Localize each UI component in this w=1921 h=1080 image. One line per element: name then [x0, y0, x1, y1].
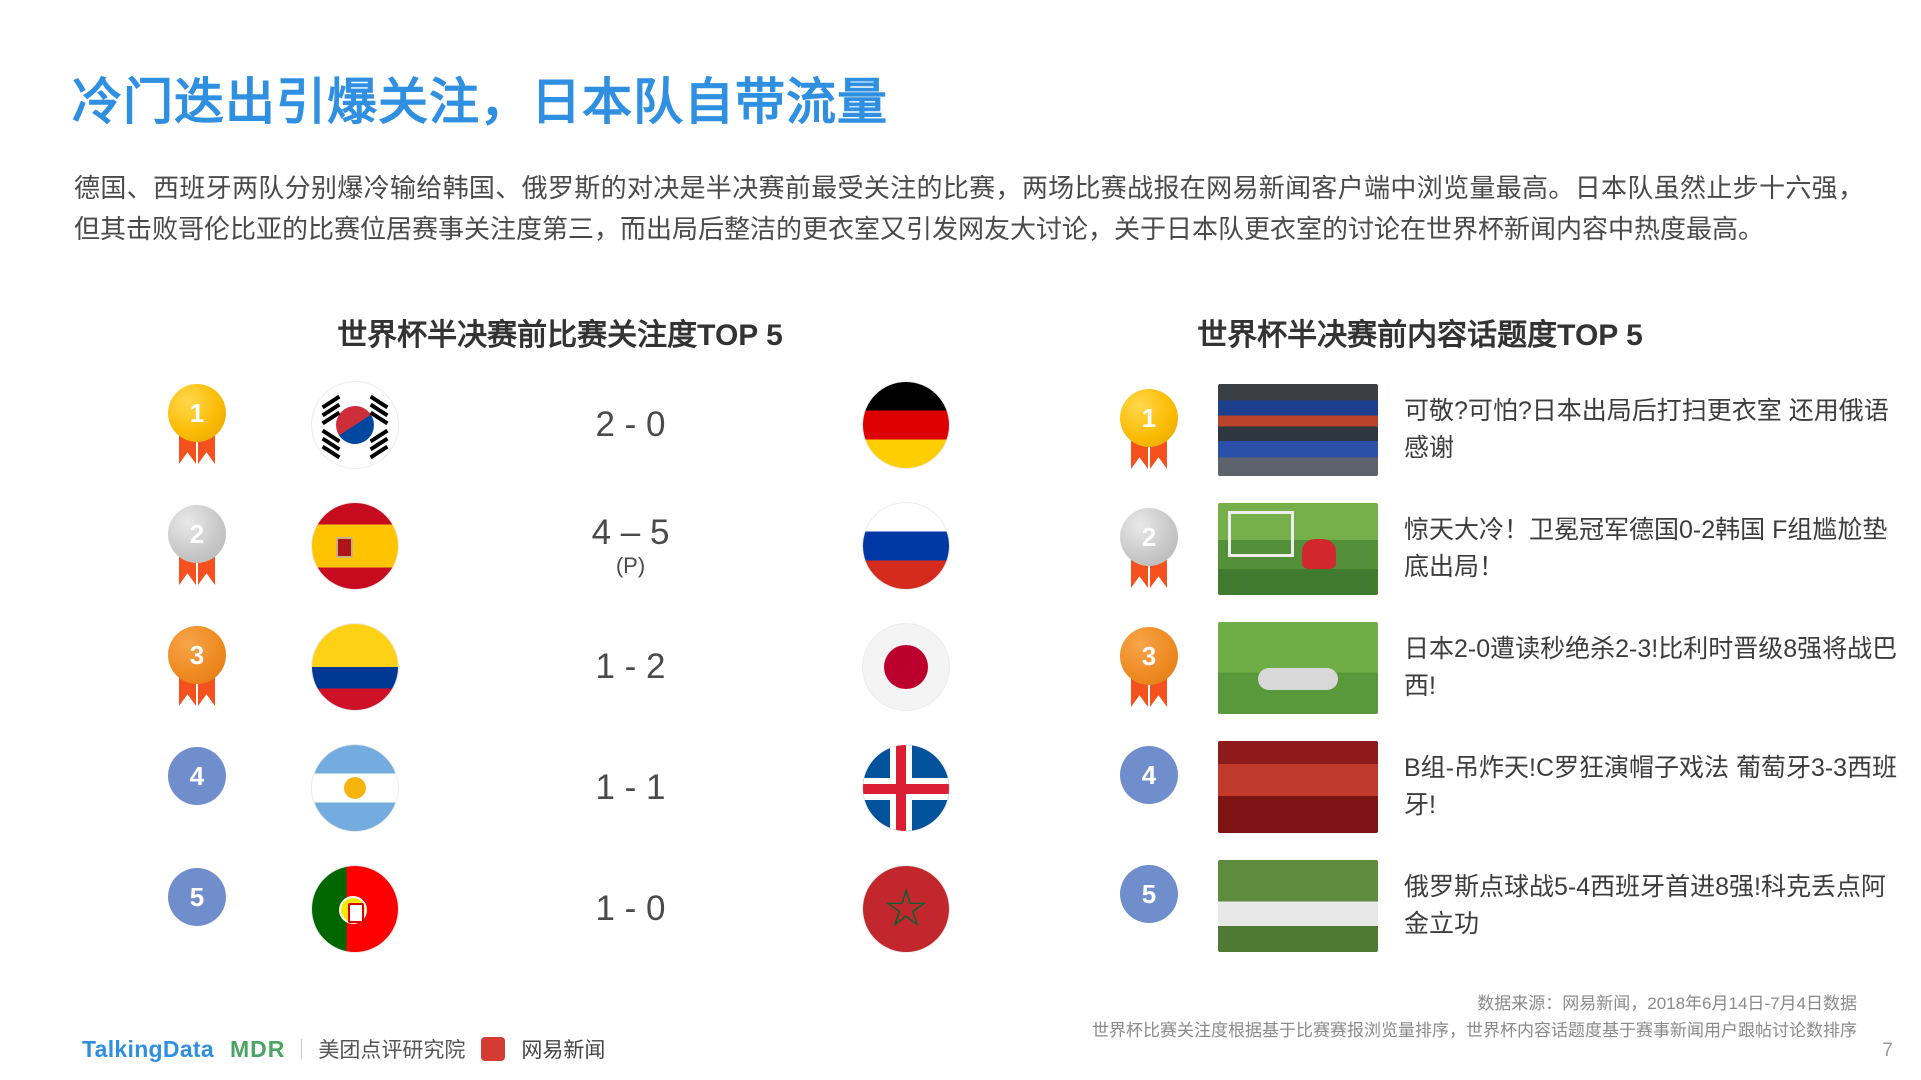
news-ranking-list: 1 可敬?可怕?日本出局后打扫更衣室 还用俄语感谢 2 惊天大冷！卫冕冠军德国0…	[1120, 382, 1910, 977]
slide: 冷门迭出引爆关注，日本队自带流量 德国、西班牙两队分别爆冷输给韩国、俄罗斯的对决…	[0, 0, 1921, 1080]
score-value: 1 - 1	[595, 768, 665, 807]
mdr-logo: MDR	[230, 1036, 285, 1063]
penalty-note: (P)	[399, 553, 862, 579]
score-value: 4 – 5	[592, 513, 670, 552]
match-score: 2 - 0	[399, 405, 862, 445]
page-title: 冷门迭出引爆关注，日本队自带流量	[72, 62, 888, 134]
flag-japan-icon	[862, 623, 950, 711]
rank-badge-5: 5	[1120, 865, 1178, 947]
match-row[interactable]: 3 1 - 2	[150, 617, 950, 717]
flag-morocco-icon: ☆	[862, 865, 950, 953]
news-headline[interactable]: 日本2-0遭读秒绝杀2-3!比利时晋级8强将战巴西!	[1404, 631, 1910, 705]
news-row[interactable]: 2 惊天大冷！卫冕冠军德国0-2韩国 F组尴尬垫底出局！	[1120, 501, 1910, 597]
meituan-research-logo: 美团点评研究院	[318, 1034, 465, 1064]
flag-spain-icon	[311, 502, 399, 590]
netease-mark-icon	[481, 1037, 505, 1061]
rank-badge-3: 3	[1120, 627, 1178, 709]
news-thumbnail-red-crowd[interactable]	[1218, 741, 1378, 833]
match-score: 1 - 2	[399, 647, 862, 687]
left-column-heading: 世界杯半决赛前比赛关注度TOP 5	[170, 310, 950, 354]
flag-iceland-icon	[862, 744, 950, 832]
news-thumbnail-locker-room[interactable]	[1218, 384, 1378, 476]
rank-number: 1	[1120, 389, 1178, 447]
news-row[interactable]: 5 俄罗斯点球战5-4西班牙首进8强!科克丢点阿金立功	[1120, 858, 1910, 954]
match-row[interactable]: 1 2 - 0	[150, 375, 950, 475]
news-row[interactable]: 3 日本2-0遭读秒绝杀2-3!比利时晋级8强将战巴西!	[1120, 620, 1910, 716]
talkingdata-logo: TalkingData	[82, 1036, 214, 1063]
right-column-heading: 世界杯半决赛前内容话题度TOP 5	[1000, 310, 1840, 354]
rank-number: 3	[168, 626, 226, 684]
match-score: 1 - 0	[399, 889, 862, 929]
news-thumbnail-goal-save[interactable]	[1218, 503, 1378, 595]
rank-number: 5	[1120, 865, 1178, 923]
news-headline[interactable]: 可敬?可怕?日本出局后打扫更衣室 还用俄语感谢	[1404, 393, 1910, 467]
news-row[interactable]: 4 B组-吊炸天!C罗狂演帽子戏法 葡萄牙3-3西班牙!	[1120, 739, 1910, 835]
news-thumbnail-pitch-players[interactable]	[1218, 622, 1378, 714]
rank-badge-2: 2	[168, 505, 226, 587]
rank-number: 1	[168, 384, 226, 442]
flag-portugal-icon	[311, 865, 399, 953]
rank-badge-1: 1	[168, 384, 226, 466]
match-score: 4 – 5 (P)	[399, 513, 862, 579]
rank-number: 4	[168, 747, 226, 805]
news-row[interactable]: 1 可敬?可怕?日本出局后打扫更衣室 还用俄语感谢	[1120, 382, 1910, 478]
source-note: 数据来源：网易新闻，2018年6月14日-7月4日数据 世界杯比赛关注度根据基于…	[877, 990, 1857, 1044]
rank-number: 3	[1120, 627, 1178, 685]
rank-badge-1: 1	[1120, 389, 1178, 471]
flag-korea-icon	[311, 381, 399, 469]
news-headline[interactable]: 俄罗斯点球战5-4西班牙首进8强!科克丢点阿金立功	[1404, 869, 1910, 943]
match-row[interactable]: 4 1 - 1	[150, 738, 950, 838]
rank-badge-5: 5	[168, 868, 226, 950]
logo-bar: TalkingData MDR 美团点评研究院 网易新闻	[82, 1034, 605, 1064]
rank-badge-2: 2	[1120, 508, 1178, 590]
summary-paragraph: 德国、西班牙两队分别爆冷输给韩国、俄罗斯的对决是半决赛前最受关注的比赛，两场比赛…	[74, 168, 1864, 250]
netease-news-logo: 网易新闻	[521, 1034, 605, 1064]
score-value: 1 - 0	[595, 889, 665, 928]
flag-colombia-icon	[311, 623, 399, 711]
match-score: 1 - 1	[399, 768, 862, 808]
rank-number: 2	[1120, 508, 1178, 566]
flag-germany-icon	[862, 381, 950, 469]
rank-number: 2	[168, 505, 226, 563]
source-line-1: 数据来源：网易新闻，2018年6月14日-7月4日数据	[877, 990, 1857, 1017]
flag-argentina-icon	[311, 744, 399, 832]
source-line-2: 世界杯比赛关注度根据基于比赛赛报浏览量排序，世界杯内容话题度基于赛事新闻用户跟帖…	[877, 1017, 1857, 1044]
match-row[interactable]: 2 4 – 5 (P)	[150, 496, 950, 596]
logo-divider	[301, 1039, 302, 1059]
rank-badge-4: 4	[168, 747, 226, 829]
rank-badge-3: 3	[168, 626, 226, 708]
news-headline[interactable]: 惊天大冷！卫冕冠军德国0-2韩国 F组尴尬垫底出局！	[1404, 512, 1910, 586]
news-thumbnail-celebration[interactable]	[1218, 860, 1378, 952]
score-value: 2 - 0	[595, 405, 665, 444]
rank-number: 5	[168, 868, 226, 926]
rank-number: 4	[1120, 746, 1178, 804]
flag-russia-icon	[862, 502, 950, 590]
score-value: 1 - 2	[595, 647, 665, 686]
news-headline[interactable]: B组-吊炸天!C罗狂演帽子戏法 葡萄牙3-3西班牙!	[1404, 750, 1910, 824]
match-ranking-list: 1 2 - 0 2	[150, 375, 950, 980]
rank-badge-4: 4	[1120, 746, 1178, 828]
page-number: 7	[1882, 1040, 1893, 1062]
match-row[interactable]: 5 1 - 0 ☆	[150, 859, 950, 959]
